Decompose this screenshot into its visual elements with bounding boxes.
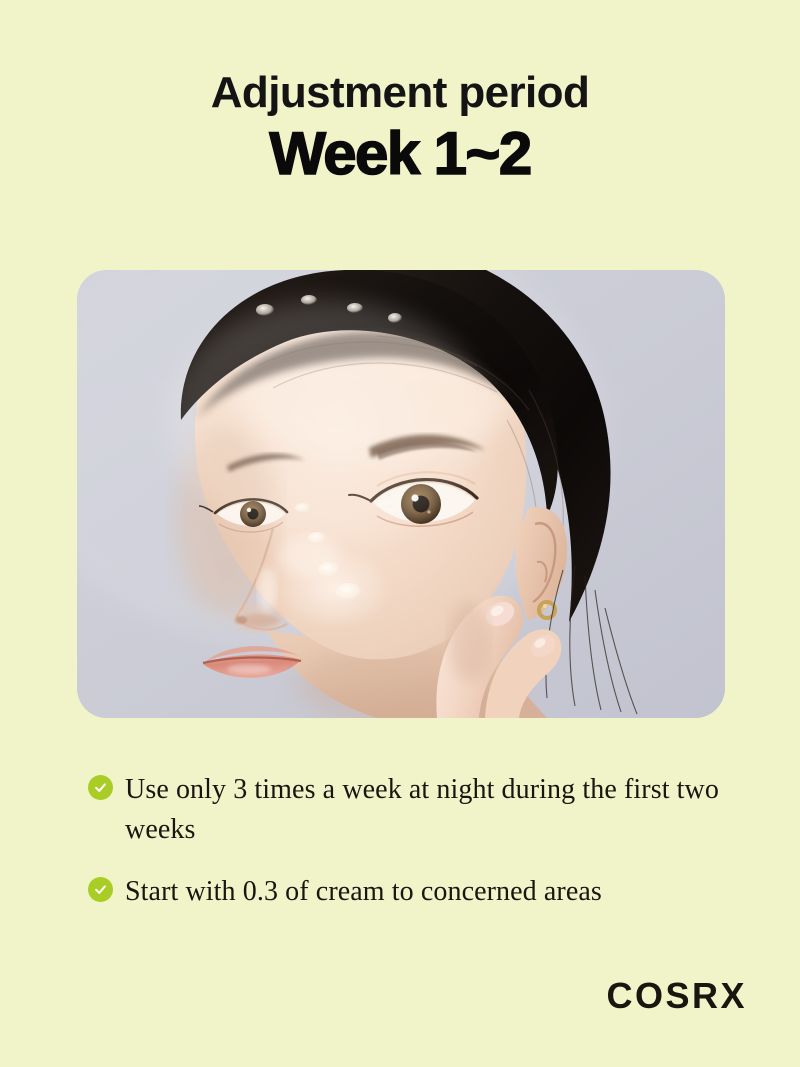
list-item: Start with 0.3 of cream to concerned are… [88, 872, 728, 912]
brand-logo: COSRX [606, 975, 747, 1017]
page-title: Week 1~2 [0, 122, 800, 187]
check-circle-icon [88, 775, 113, 800]
check-circle-icon [88, 877, 113, 902]
list-item: Use only 3 times a week at night during … [88, 770, 728, 850]
bullet-text: Start with 0.3 of cream to concerned are… [125, 872, 602, 912]
hero-photo [77, 270, 725, 718]
model-photo-illustration [77, 270, 725, 718]
bullet-text: Use only 3 times a week at night during … [125, 770, 728, 850]
bullet-list: Use only 3 times a week at night during … [88, 770, 728, 933]
header-block: Adjustment period Week 1~2 [0, 0, 800, 187]
page-kicker: Adjustment period [0, 70, 800, 116]
